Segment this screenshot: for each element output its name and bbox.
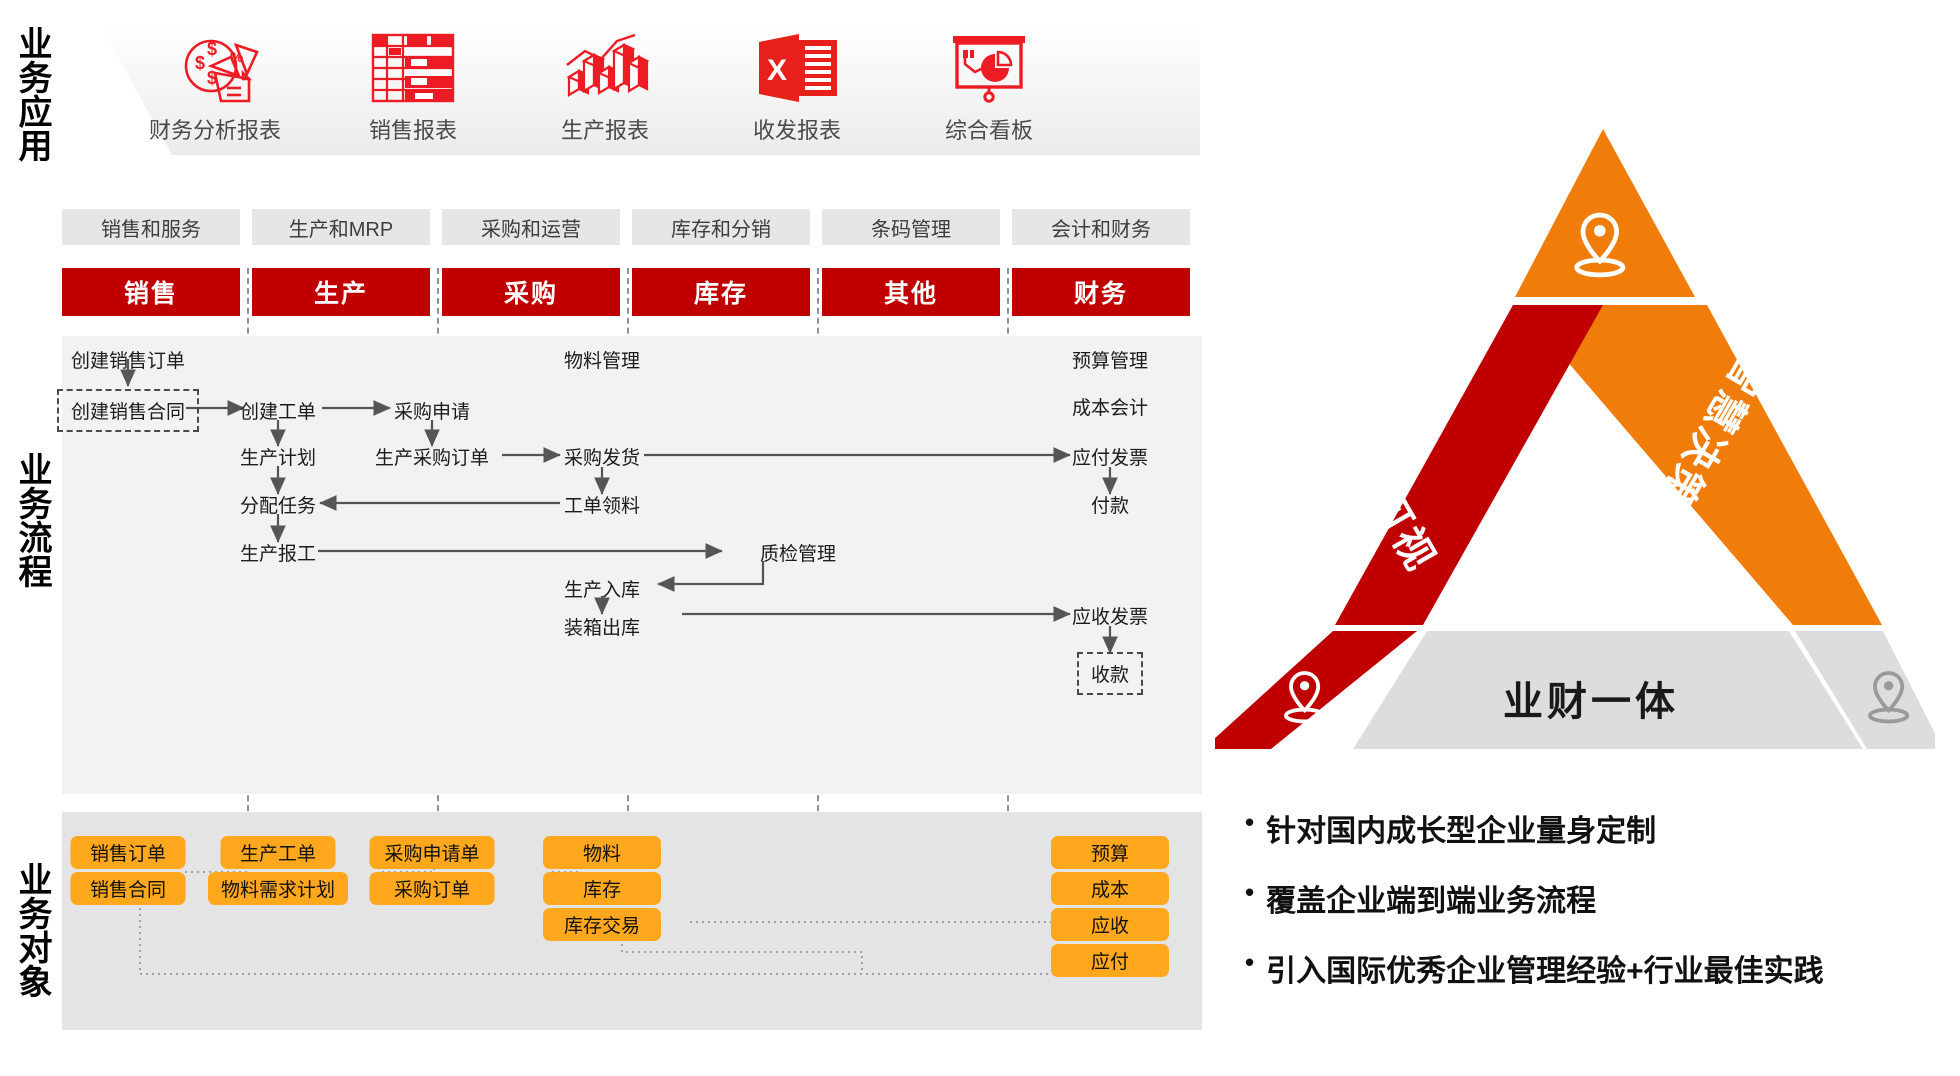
flow-node-payment[interactable]: 付款 [1091,491,1129,518]
object-box-inventory[interactable]: 库存 [543,872,661,905]
column-header-finance[interactable]: 财务 [1012,268,1190,316]
flow-node-production-purchase-order[interactable]: 生产采购订单 [375,443,489,470]
section-label-business-applications: 业务应用 [6,26,50,162]
flow-node-create-work-order[interactable]: 创建工单 [240,397,316,424]
bullet-item: • 覆盖企业端到端业务流程 [1245,876,1945,920]
flow-node-production-reporting[interactable]: 生产报工 [240,539,316,566]
section-label-business-objects: 业务对象 [6,862,50,998]
app-item-sales-report[interactable]: 销售报表 [318,27,508,145]
svg-text:$: $ [195,53,205,73]
object-box-purchase-order[interactable]: 采购订单 [370,872,495,905]
bullet-dot-icon: • [1245,876,1254,909]
object-box-sales-order[interactable]: 销售订单 [71,836,186,869]
flow-node-budget-management[interactable]: 预算管理 [1072,346,1148,373]
bullet-dot-icon: • [1245,806,1254,839]
business-applications-band: $ $ $ % 财务分析报表 [100,25,1200,155]
column-header-row: 销售 生产 采购 库存 其他 财务 [62,268,1202,316]
module-chip-accounting-finance[interactable]: 会计和财务 [1012,209,1190,245]
module-chip-sales-service[interactable]: 销售和服务 [62,209,240,245]
svg-text:$: $ [207,68,217,88]
slide-canvas: 业务应用 业务流程 业务对象 [0,0,1960,1076]
object-box-receivable[interactable]: 应收 [1051,908,1169,941]
flow-node-packing-outbound[interactable]: 装箱出库 [564,613,640,640]
bullet-text: 引入国际优秀企业管理经验+行业最佳实践 [1266,946,1824,990]
object-box-sales-contract[interactable]: 销售合同 [71,872,186,905]
business-objects-panel: 销售订单 销售合同 生产工单 物料需求计划 采购申请单 采购订单 物料 库存 库… [62,812,1202,1030]
flow-node-purchase-requisition[interactable]: 采购申请 [394,397,470,424]
flow-node-payable-invoice[interactable]: 应付发票 [1072,443,1148,470]
svg-text:$: $ [207,39,217,59]
flow-arrows [62,336,1202,794]
bullet-item: • 引入国际优秀企业管理经验+行业最佳实践 [1245,946,1945,990]
svg-text:%: % [230,49,243,66]
module-chip-row: 销售和服务 生产和MRP 采购和运营 库存和分销 条码管理 会计和财务 [62,209,1202,245]
module-chip-production-mrp[interactable]: 生产和MRP [252,209,430,245]
flow-node-create-sales-contract[interactable]: 创建销售合同 [57,389,199,432]
object-box-production-work-order[interactable]: 生产工单 [221,836,336,869]
triangle-apex [1515,129,1695,297]
bar-chart-3d-icon [510,27,700,109]
object-box-material-requirement-plan[interactable]: 物料需求计划 [208,872,348,905]
business-process-panel: 创建销售订单 创建销售合同 创建工单 生产计划 分配任务 生产报工 采购申请 生… [62,336,1202,794]
flow-node-production-plan[interactable]: 生产计划 [240,443,316,470]
bullet-text: 覆盖企业端到端业务流程 [1266,876,1596,920]
app-item-comprehensive-dashboard[interactable]: 综合看板 [894,27,1084,145]
spreadsheet-table-icon [318,27,508,109]
column-header-other[interactable]: 其他 [822,268,1000,316]
app-item-financial-analysis-report[interactable]: $ $ $ % 财务分析报表 [120,27,310,145]
presentation-pie-icon [894,27,1084,109]
app-label: 销售报表 [318,113,508,145]
module-chip-inventory-dist[interactable]: 库存和分销 [632,209,810,245]
object-box-payable[interactable]: 应付 [1051,944,1169,977]
app-item-production-report[interactable]: 生产报表 [510,27,700,145]
flow-node-material-management[interactable]: 物料管理 [564,346,640,373]
app-label: 综合看板 [894,113,1084,145]
flow-node-production-warehousing[interactable]: 生产入库 [564,575,640,602]
app-label: 收发报表 [702,113,892,145]
app-label: 财务分析报表 [120,113,310,145]
flow-node-collection[interactable]: 收款 [1077,652,1143,695]
flow-node-work-order-material-issue[interactable]: 工单领料 [564,491,640,518]
flow-node-assign-task[interactable]: 分配任务 [240,491,316,518]
object-box-purchase-requisition[interactable]: 采购申请单 [370,836,495,869]
app-item-receipt-dispatch-report[interactable]: X 收发报表 [702,27,892,145]
triangle-label-business-finance-integration: 业财一体 [1503,669,1679,727]
object-box-budget[interactable]: 预算 [1051,836,1169,869]
pie-chart-money-icon: $ $ $ % [120,27,310,109]
excel-file-icon: X [702,27,892,109]
module-chip-barcode-mgmt[interactable]: 条码管理 [822,209,1000,245]
column-header-production[interactable]: 生产 [252,268,430,316]
bullet-text: 针对国内成长型企业量身定制 [1266,806,1656,850]
section-label-business-process: 业务流程 [6,452,50,588]
feature-bullet-list: • 针对国内成长型企业量身定制 • 覆盖企业端到端业务流程 • 引入国际优秀企业… [1245,806,1945,1016]
flow-node-cost-accounting[interactable]: 成本会计 [1072,393,1148,420]
app-label: 生产报表 [510,113,700,145]
column-header-purchasing[interactable]: 采购 [442,268,620,316]
flow-node-receivable-invoice[interactable]: 应收发票 [1072,602,1148,629]
flow-node-create-sales-order[interactable]: 创建销售订单 [71,346,185,373]
object-box-material[interactable]: 物料 [543,836,661,869]
column-header-inventory[interactable]: 库存 [632,268,810,316]
module-chip-purchasing-ops[interactable]: 采购和运营 [442,209,620,245]
flow-node-quality-inspection[interactable]: 质检管理 [760,539,836,566]
object-box-cost[interactable]: 成本 [1051,872,1169,905]
object-box-inventory-transaction[interactable]: 库存交易 [543,908,661,941]
bullet-item: • 针对国内成长型企业量身定制 [1245,806,1945,850]
triangle-diagram: 流程可视 智慧决策 业财一体 [1215,115,1935,755]
column-header-sales[interactable]: 销售 [62,268,240,316]
bullet-dot-icon: • [1245,946,1254,979]
flow-node-purchase-delivery[interactable]: 采购发货 [564,443,640,470]
svg-text:X: X [767,54,787,87]
